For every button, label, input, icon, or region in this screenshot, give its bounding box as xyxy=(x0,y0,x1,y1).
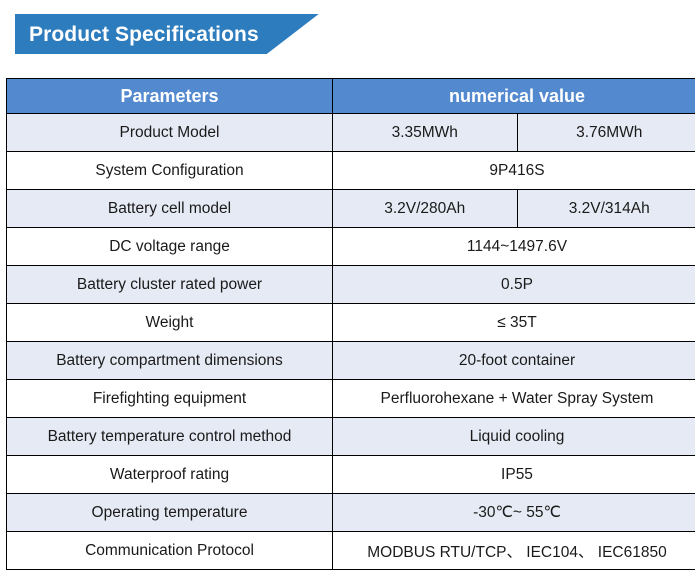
table-row: Battery cluster rated power0.5P xyxy=(7,266,695,304)
table-row: System Configuration9P416S xyxy=(7,152,695,190)
table-row: Communication ProtocolMODBUS RTU/TCP、 IE… xyxy=(7,532,695,570)
row-parameter-label: Firefighting equipment xyxy=(7,380,333,418)
row-value-cell: 0.5P xyxy=(333,266,695,304)
product-specifications-table: Parameters numerical value Product Model… xyxy=(6,78,695,570)
row-value-cell: Liquid cooling xyxy=(333,418,695,456)
row-parameter-label: Operating temperature xyxy=(7,494,333,532)
row-parameter-label: System Configuration xyxy=(7,152,333,190)
row-parameter-label: Weight xyxy=(7,304,333,342)
row-value-cell: 3.35MWh xyxy=(333,114,518,152)
table-row: Battery compartment dimensions20-foot co… xyxy=(7,342,695,380)
table-body: Product Model3.35MWh3.76MWhSystem Config… xyxy=(7,114,695,570)
row-value-cell: 1144~1497.6V xyxy=(333,228,695,266)
column-header-parameters: Parameters xyxy=(7,79,333,114)
table-row: Weight≤ 35T xyxy=(7,304,695,342)
row-parameter-label: Battery cell model xyxy=(7,190,333,228)
row-value-cell: Perfluorohexane + Water Spray System xyxy=(333,380,695,418)
table-row: Battery cell model3.2V/280Ah3.2V/314Ah xyxy=(7,190,695,228)
row-value-cell: 3.2V/280Ah xyxy=(333,190,518,228)
banner-body: Product Specifications xyxy=(15,14,267,54)
row-parameter-label: Battery compartment dimensions xyxy=(7,342,333,380)
page-title: Product Specifications xyxy=(29,24,259,45)
table-row: Battery temperature control methodLiquid… xyxy=(7,418,695,456)
row-value-cell: 3.76MWh xyxy=(517,114,695,152)
row-parameter-label: Waterproof rating xyxy=(7,456,333,494)
row-value-cell: 3.2V/314Ah xyxy=(517,190,695,228)
table-row: Operating temperature-30℃~ 55℃ xyxy=(7,494,695,532)
row-value-cell: ≤ 35T xyxy=(333,304,695,342)
table-row: DC voltage range1144~1497.6V xyxy=(7,228,695,266)
table-row: Firefighting equipmentPerfluorohexane + … xyxy=(7,380,695,418)
row-parameter-label: Battery temperature control method xyxy=(7,418,333,456)
column-header-numerical-value: numerical value xyxy=(333,79,695,114)
row-value-cell: MODBUS RTU/TCP、 IEC104、 IEC61850 xyxy=(333,532,695,570)
row-parameter-label: DC voltage range xyxy=(7,228,333,266)
row-value-cell: 20-foot container xyxy=(333,342,695,380)
row-parameter-label: Battery cluster rated power xyxy=(7,266,333,304)
row-value-cell: -30℃~ 55℃ xyxy=(333,494,695,532)
banner-angled-tail xyxy=(267,14,319,54)
table-header: Parameters numerical value xyxy=(7,79,695,114)
product-specifications-banner: Product Specifications xyxy=(15,14,319,54)
table-row: Waterproof ratingIP55 xyxy=(7,456,695,494)
row-value-cell: 9P416S xyxy=(333,152,695,190)
table-row: Product Model3.35MWh3.76MWh xyxy=(7,114,695,152)
table-header-row: Parameters numerical value xyxy=(7,79,695,114)
row-parameter-label: Product Model xyxy=(7,114,333,152)
row-parameter-label: Communication Protocol xyxy=(7,532,333,570)
row-value-cell: IP55 xyxy=(333,456,695,494)
